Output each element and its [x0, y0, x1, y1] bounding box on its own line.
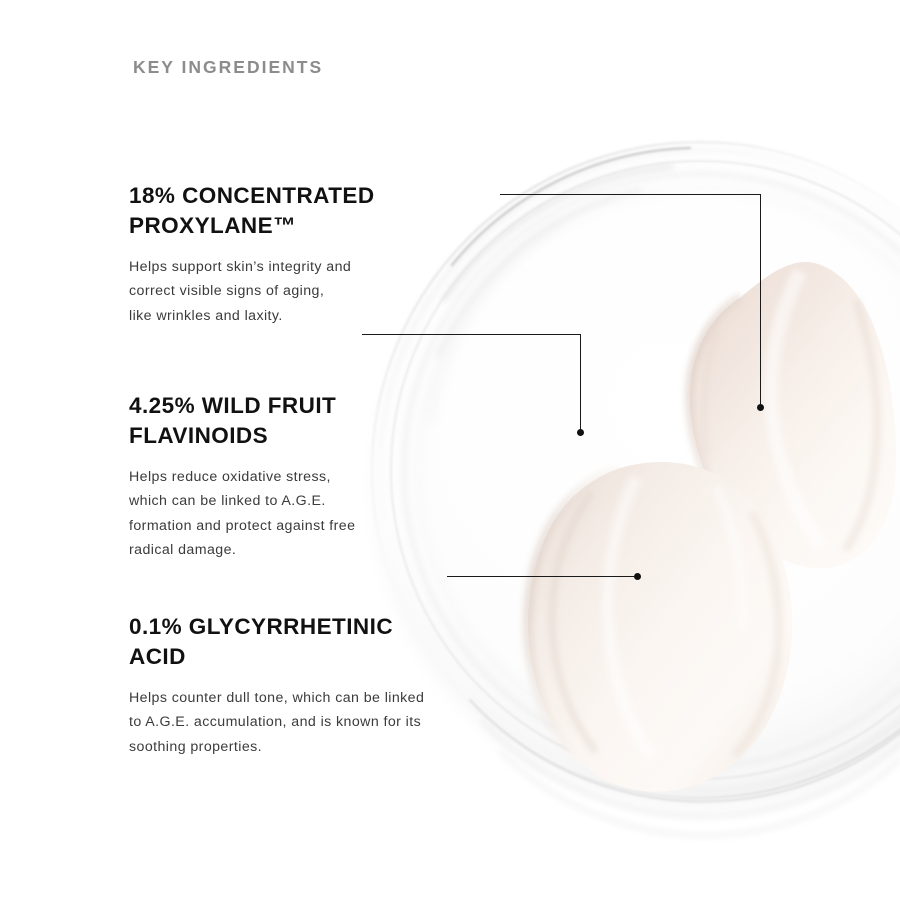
- dish-rim-bottom-2: [482, 722, 900, 816]
- dish-inner-well-edge: [418, 188, 900, 752]
- cream-swatch-lower-edge: [528, 468, 620, 760]
- leader-line-glycyrrhetinic-horizontal: [447, 576, 637, 577]
- dish-rim-ring-2: [380, 150, 900, 790]
- cream-swatch-upper-edge: [690, 297, 815, 568]
- key-ingredients-infographic: KEY INGREDIENTS 18% CONCENTRATED PROXYLA…: [0, 0, 900, 900]
- leader-line-proxylane-horizontal: [500, 194, 760, 195]
- ingredient-body-flavinoids: Helps reduce oxidative stress, which can…: [129, 465, 355, 563]
- cream-swatch-upper-highlight: [771, 272, 822, 548]
- leader-dot-glycyrrhetinic: [634, 573, 641, 580]
- ingredient-block-glycyrrhetinic: 0.1% GLYCYRRHETINIC ACID Helps counter d…: [129, 612, 424, 759]
- dish-rim-ring-3: [391, 161, 900, 779]
- ingredient-block-flavinoids: 4.25% WILD FRUIT FLAVINOIDS Helps reduce…: [129, 391, 355, 563]
- dish-rim-highlight-4: [430, 222, 560, 420]
- cream-swatch-lower-fold-left: [552, 492, 596, 752]
- leader-line-proxylane-vertical: [760, 194, 761, 407]
- cream-swatch-upper-fold: [845, 300, 877, 550]
- dish-rim-highlight-3: [438, 190, 640, 356]
- page-eyebrow-title: KEY INGREDIENTS: [133, 57, 323, 78]
- leader-dot-proxylane: [757, 404, 764, 411]
- ingredient-body-proxylane: Helps support skin’s integrity and corre…: [129, 255, 375, 328]
- cream-swatch-upper-shape: [690, 262, 896, 568]
- dish-shadow: [376, 164, 900, 808]
- dish-rim-bottom-1: [470, 700, 900, 801]
- ingredient-block-proxylane: 18% CONCENTRATED PROXYLANE™ Helps suppor…: [129, 181, 375, 328]
- dish-rim-ring-4: [404, 174, 900, 766]
- cream-swatch-lower-fold-right: [734, 512, 779, 756]
- dish-rim-highlight-2: [444, 167, 672, 300]
- ingredient-title-flavinoids: 4.25% WILD FRUIT FLAVINOIDS: [129, 391, 355, 451]
- cream-swatch-upper: [690, 262, 896, 568]
- leader-line-flavinoids-horizontal: [362, 334, 580, 335]
- ingredient-title-proxylane: 18% CONCENTRATED PROXYLANE™: [129, 181, 375, 241]
- ingredient-body-glycyrrhetinic: Helps counter dull tone, which can be li…: [129, 686, 424, 759]
- cream-swatch-upper-ridge: [704, 330, 718, 456]
- cream-swatch-lower-shape: [528, 462, 792, 792]
- dish-rim-bottom-3: [500, 752, 900, 835]
- cream-swatch-lower-ridge: [716, 486, 743, 630]
- cream-swatch-lower: [528, 462, 792, 792]
- dish-rim-outer: [372, 142, 900, 798]
- dish-rim-highlight-1: [452, 148, 690, 265]
- leader-dot-flavinoids: [577, 429, 584, 436]
- ingredient-title-glycyrrhetinic: 0.1% GLYCYRRHETINIC ACID: [129, 612, 424, 672]
- dish-body: [372, 142, 900, 798]
- leader-line-flavinoids-vertical: [580, 334, 581, 432]
- cream-swatch-lower-highlight: [608, 478, 652, 758]
